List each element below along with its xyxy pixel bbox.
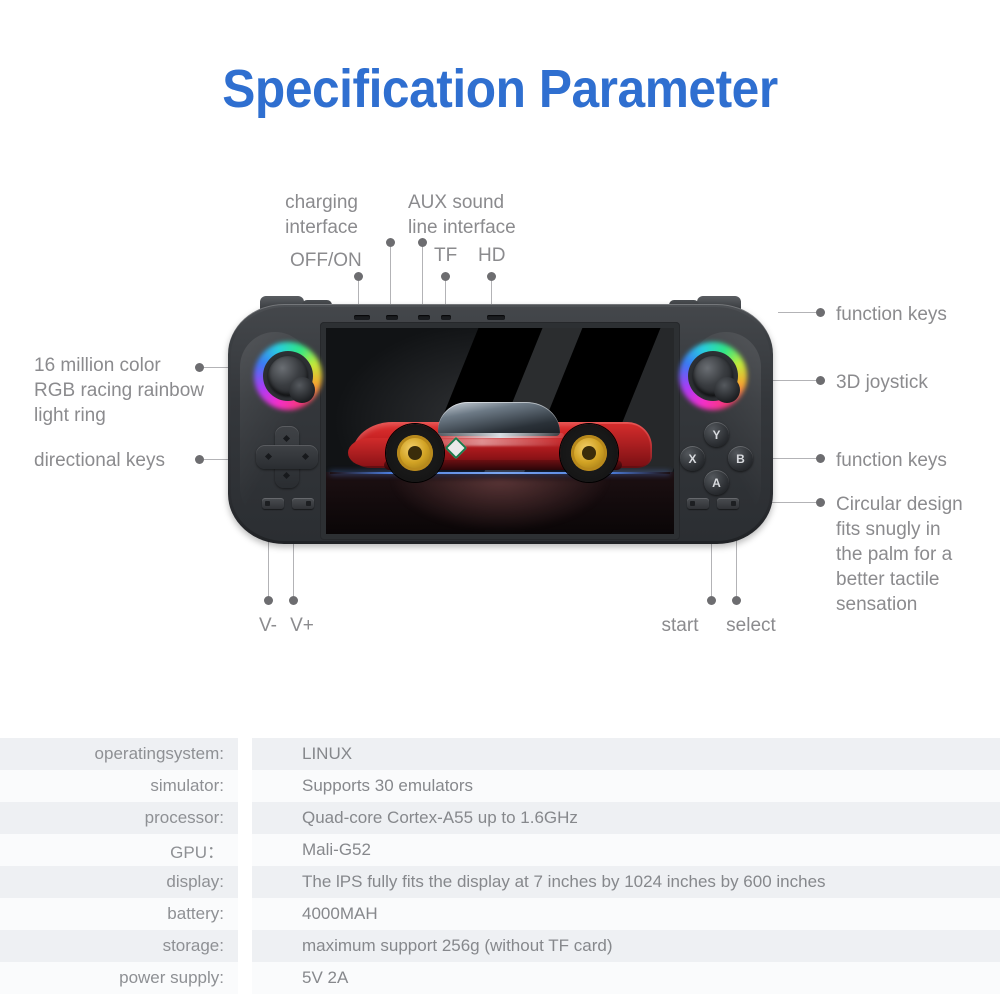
car-wheel-rear [560, 424, 618, 482]
table-row: GPU： Mali-G52 [0, 834, 1000, 866]
callout-volume-up: V+ [272, 613, 332, 638]
joystick-left-dish [289, 377, 315, 403]
table-row: simulator: Supports 30 emulators [0, 770, 1000, 802]
spec-value: LINUX [252, 738, 1000, 770]
console-shell: Y X B A [228, 304, 773, 544]
port-hd [487, 315, 505, 320]
car-cabin [438, 402, 560, 436]
handheld-game-console: Y X B A [228, 296, 773, 544]
dot-volume-down [264, 596, 273, 605]
screen-floor-reflection [389, 478, 612, 532]
volume-up-button[interactable] [292, 498, 314, 509]
spec-label: simulator: [0, 770, 238, 802]
table-row: storage: maximum support 256g (without T… [0, 930, 1000, 962]
dot-off-on [354, 272, 363, 281]
spec-label: power supply: [0, 962, 238, 994]
car-rim-rear [571, 435, 607, 471]
sports-car-image [352, 390, 652, 482]
spec-label: display: [0, 866, 238, 898]
dot-aux-sound-line [418, 238, 427, 247]
spec-value: 4000MAH [252, 898, 1000, 930]
rgb-light-ring-right [679, 342, 747, 410]
callout-tf: TF [434, 243, 474, 268]
callout-3d-joystick: 3D joystick [836, 370, 1000, 395]
spec-value: 5V 2A [252, 962, 1000, 994]
callout-function-keys-bottom: function keys [836, 448, 1000, 473]
spec-label: GPU： [0, 834, 238, 866]
spec-label: storage: [0, 930, 238, 962]
leader-circular-design [772, 502, 816, 503]
spec-value: The lPS fully fits the display at 7 inch… [252, 866, 1000, 898]
callout-select: select [712, 613, 790, 638]
table-row: processor: Quad-core Cortex-A55 up to 1.… [0, 802, 1000, 834]
dot-tf [441, 272, 450, 281]
button-a[interactable]: A [704, 470, 729, 495]
dot-3d-joystick [816, 376, 825, 385]
dot-directional-keys [195, 455, 204, 464]
dot-hd [487, 272, 496, 281]
page-title: Specification Parameter [40, 58, 960, 120]
screen-display[interactable] [326, 328, 674, 534]
callout-hd: HD [478, 243, 522, 268]
spec-value: Mali-G52 [252, 834, 1000, 866]
spec-label: battery: [0, 898, 238, 930]
rgb-light-ring-left [254, 342, 322, 410]
volume-down-button[interactable] [262, 498, 284, 509]
spec-label: processor: [0, 802, 238, 834]
callout-circular-design: Circular design fits snugly in the palm … [836, 492, 986, 617]
joystick-right-dish [714, 377, 740, 403]
dot-circular-design [816, 498, 825, 507]
button-y[interactable]: Y [704, 422, 729, 447]
callout-charging-interface: charging interface [248, 190, 358, 240]
table-row: operatingsystem: LINUX [0, 738, 1000, 770]
dot-function-keys-bottom [816, 454, 825, 463]
callout-function-keys-top: function keys [836, 302, 1000, 327]
dot-function-keys-top [816, 308, 825, 317]
spec-value: maximum support 256g (without TF card) [252, 930, 1000, 962]
select-button[interactable] [717, 498, 739, 509]
table-row: display: The lPS fully fits the display … [0, 866, 1000, 898]
dot-select [732, 596, 741, 605]
spec-value: Quad-core Cortex-A55 up to 1.6GHz [252, 802, 1000, 834]
product-spec-page: Specification Parameter charging interfa… [0, 0, 1000, 1000]
button-x[interactable]: X [680, 446, 705, 471]
dot-rgb-light-ring [195, 363, 204, 372]
port-charging-interface [386, 315, 398, 320]
joystick-right[interactable] [693, 356, 733, 396]
joystick-left[interactable] [268, 356, 308, 396]
start-button[interactable] [687, 498, 709, 509]
table-row: power supply: 5V 2A [0, 962, 1000, 994]
table-row: battery: 4000MAH [0, 898, 1000, 930]
button-b[interactable]: B [728, 446, 753, 471]
directional-pad[interactable] [256, 426, 318, 488]
car-rim-front [397, 435, 433, 471]
leader-volume-down [268, 536, 269, 596]
port-off-on[interactable] [354, 315, 370, 320]
screen-bezel [320, 322, 680, 540]
car-wheel-front [386, 424, 444, 482]
callout-off-on: OFF/ON [290, 248, 380, 273]
dot-volume-up [289, 596, 298, 605]
leader-start [711, 536, 712, 596]
leader-volume-up [293, 536, 294, 596]
spec-label: operatingsystem: [0, 738, 238, 770]
port-tf [441, 315, 451, 320]
specification-table: operatingsystem: LINUX simulator: Suppor… [0, 738, 1000, 994]
spec-value: Supports 30 emulators [252, 770, 1000, 802]
leader-function-keys-top [778, 312, 816, 313]
dot-charging-interface [386, 238, 395, 247]
leader-select [736, 536, 737, 596]
callout-start: start [644, 613, 716, 638]
port-aux-sound-line [418, 315, 430, 320]
dot-start [707, 596, 716, 605]
callout-aux-sound-line: AUX sound line interface [408, 190, 548, 240]
callout-rgb-light-ring: 16 million color RGB racing rainbow ligh… [34, 353, 249, 428]
